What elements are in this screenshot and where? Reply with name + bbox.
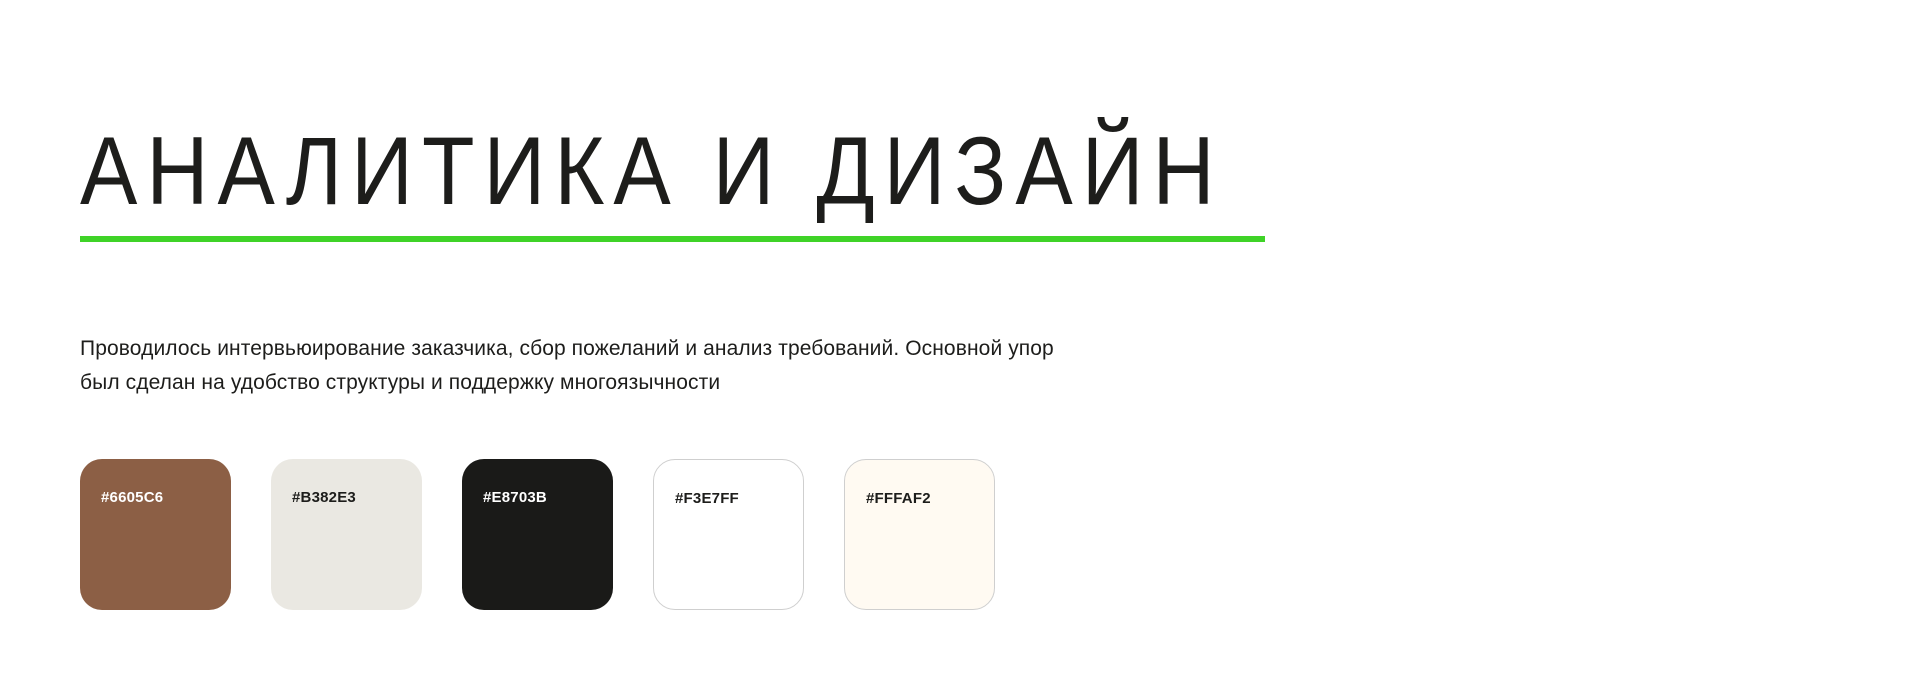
color-swatch[interactable]: #F3E7FF xyxy=(653,459,804,610)
color-swatch-label: #FFFAF2 xyxy=(866,490,931,507)
color-swatch-label: #6605C6 xyxy=(101,489,163,506)
color-palette-row: #6605C6 #B382E3 #E8703B #F3E7FF #FFFAF2 xyxy=(80,459,995,610)
analytics-design-section: АНАЛИТИКА И ДИЗАЙН Проводилось интервьюи… xyxy=(0,0,1919,677)
heading-block: АНАЛИТИКА И ДИЗАЙН xyxy=(80,118,1280,242)
page-title: АНАЛИТИКА И ДИЗАЙН xyxy=(80,118,1280,226)
color-swatch[interactable]: #FFFAF2 xyxy=(844,459,995,610)
color-swatch[interactable]: #6605C6 xyxy=(80,459,231,610)
title-underline-rule xyxy=(80,236,1265,242)
color-swatch-label: #F3E7FF xyxy=(675,490,739,507)
section-description: Проводилось интервьюирование заказчика, … xyxy=(80,332,1170,400)
color-swatch[interactable]: #E8703B xyxy=(462,459,613,610)
color-swatch-label: #E8703B xyxy=(483,489,547,506)
description-line-1: Проводилось интервьюирование заказчика, … xyxy=(80,332,1170,366)
description-line-2: был сделан на удобство структуры и подде… xyxy=(80,366,1170,400)
color-swatch[interactable]: #B382E3 xyxy=(271,459,422,610)
color-swatch-label: #B382E3 xyxy=(292,489,356,506)
